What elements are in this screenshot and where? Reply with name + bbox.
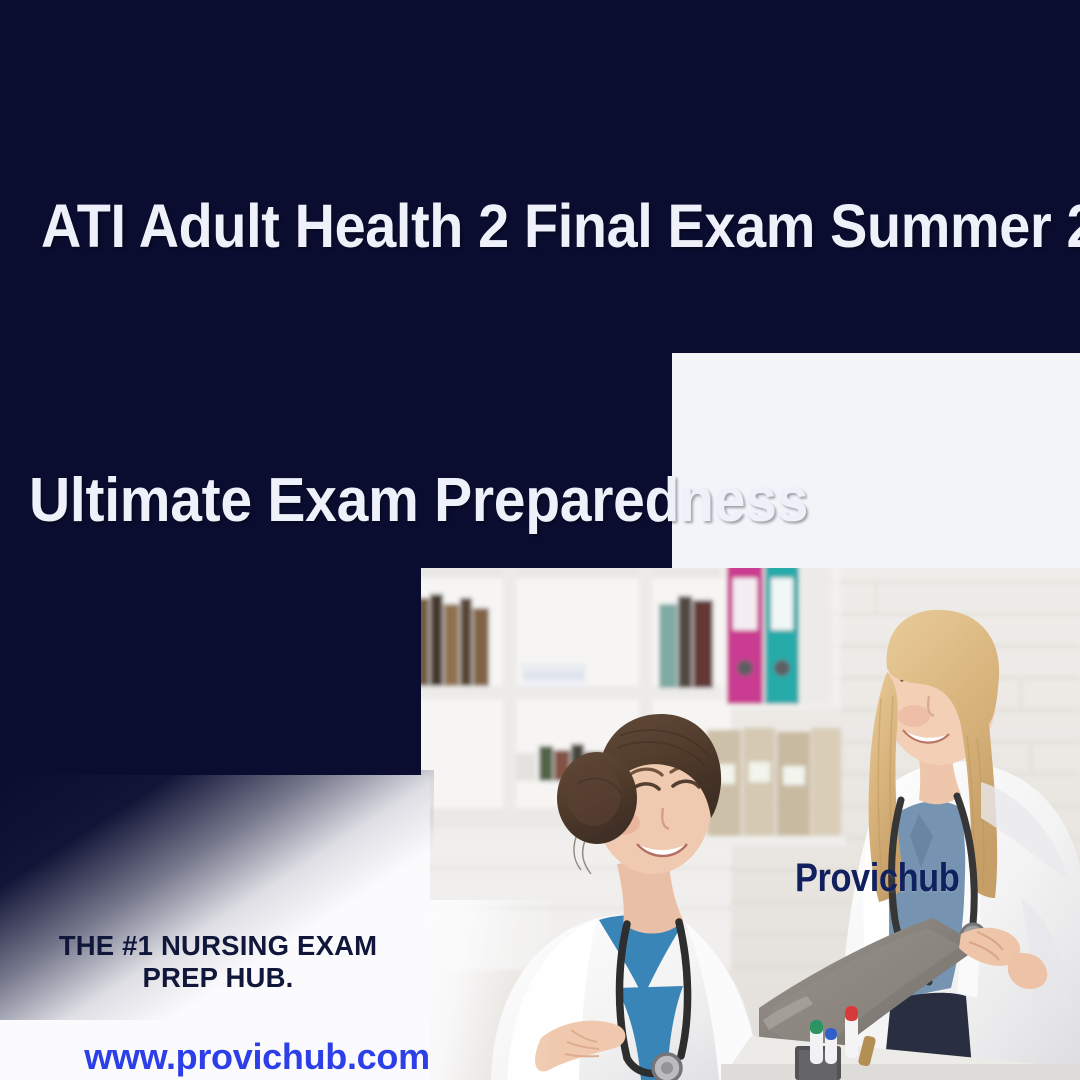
tagline-line-2: PREP HUB. [42, 962, 394, 994]
hero-photo-illustration [421, 568, 1080, 1080]
website-url[interactable]: www.provichub.com [42, 1036, 472, 1078]
decorative-panel-right [672, 353, 1080, 569]
hero-photo [421, 568, 1080, 1080]
brand-watermark: Provichub [795, 856, 959, 901]
page-title: ATI Adult Health 2 Final Exam Summer 202… [41, 196, 956, 257]
decorative-panel-bottom-left [0, 775, 430, 1080]
tagline: THE #1 NURSING EXAM PREP HUB. [42, 930, 394, 994]
poster-canvas: ATI Adult Health 2 Final Exam Summer 202… [0, 0, 1080, 1080]
page-subtitle: Ultimate Exam Preparedness [29, 470, 808, 532]
tagline-line-1: THE #1 NURSING EXAM [42, 930, 394, 962]
